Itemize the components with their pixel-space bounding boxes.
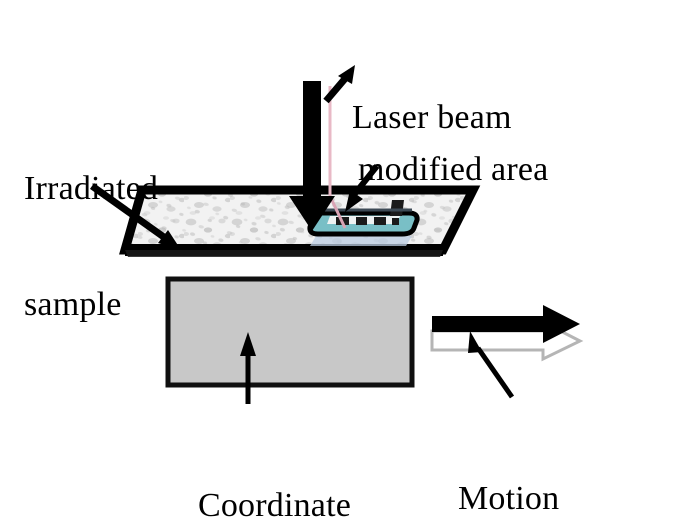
label-irradiated-sample-line2: sample [24, 286, 158, 325]
coordinate-table-body [168, 279, 412, 385]
label-modified-area-line1: modified area [358, 151, 548, 190]
label-irradiated-sample: Irradiated sample [24, 92, 158, 402]
label-motion-direction: Motion direction [458, 402, 581, 525]
beam-arrow-shaft [303, 81, 321, 202]
label-coordinate-table: Coordinate table [152, 409, 397, 525]
leader-motion-direction-line [478, 348, 512, 397]
figure-canvas: Irradiated sample Laser beam modified ar… [0, 0, 695, 525]
leader-laser-beam [326, 65, 355, 101]
coordinate-table [168, 279, 412, 385]
label-irradiated-sample-line1: Irradiated [24, 170, 158, 209]
label-modified-area: modified area [358, 73, 548, 267]
motion-direction-arrow [432, 305, 580, 359]
label-motion-direction-line1: Motion [458, 480, 581, 519]
label-coordinate-table-line1: Coordinate [152, 487, 397, 525]
